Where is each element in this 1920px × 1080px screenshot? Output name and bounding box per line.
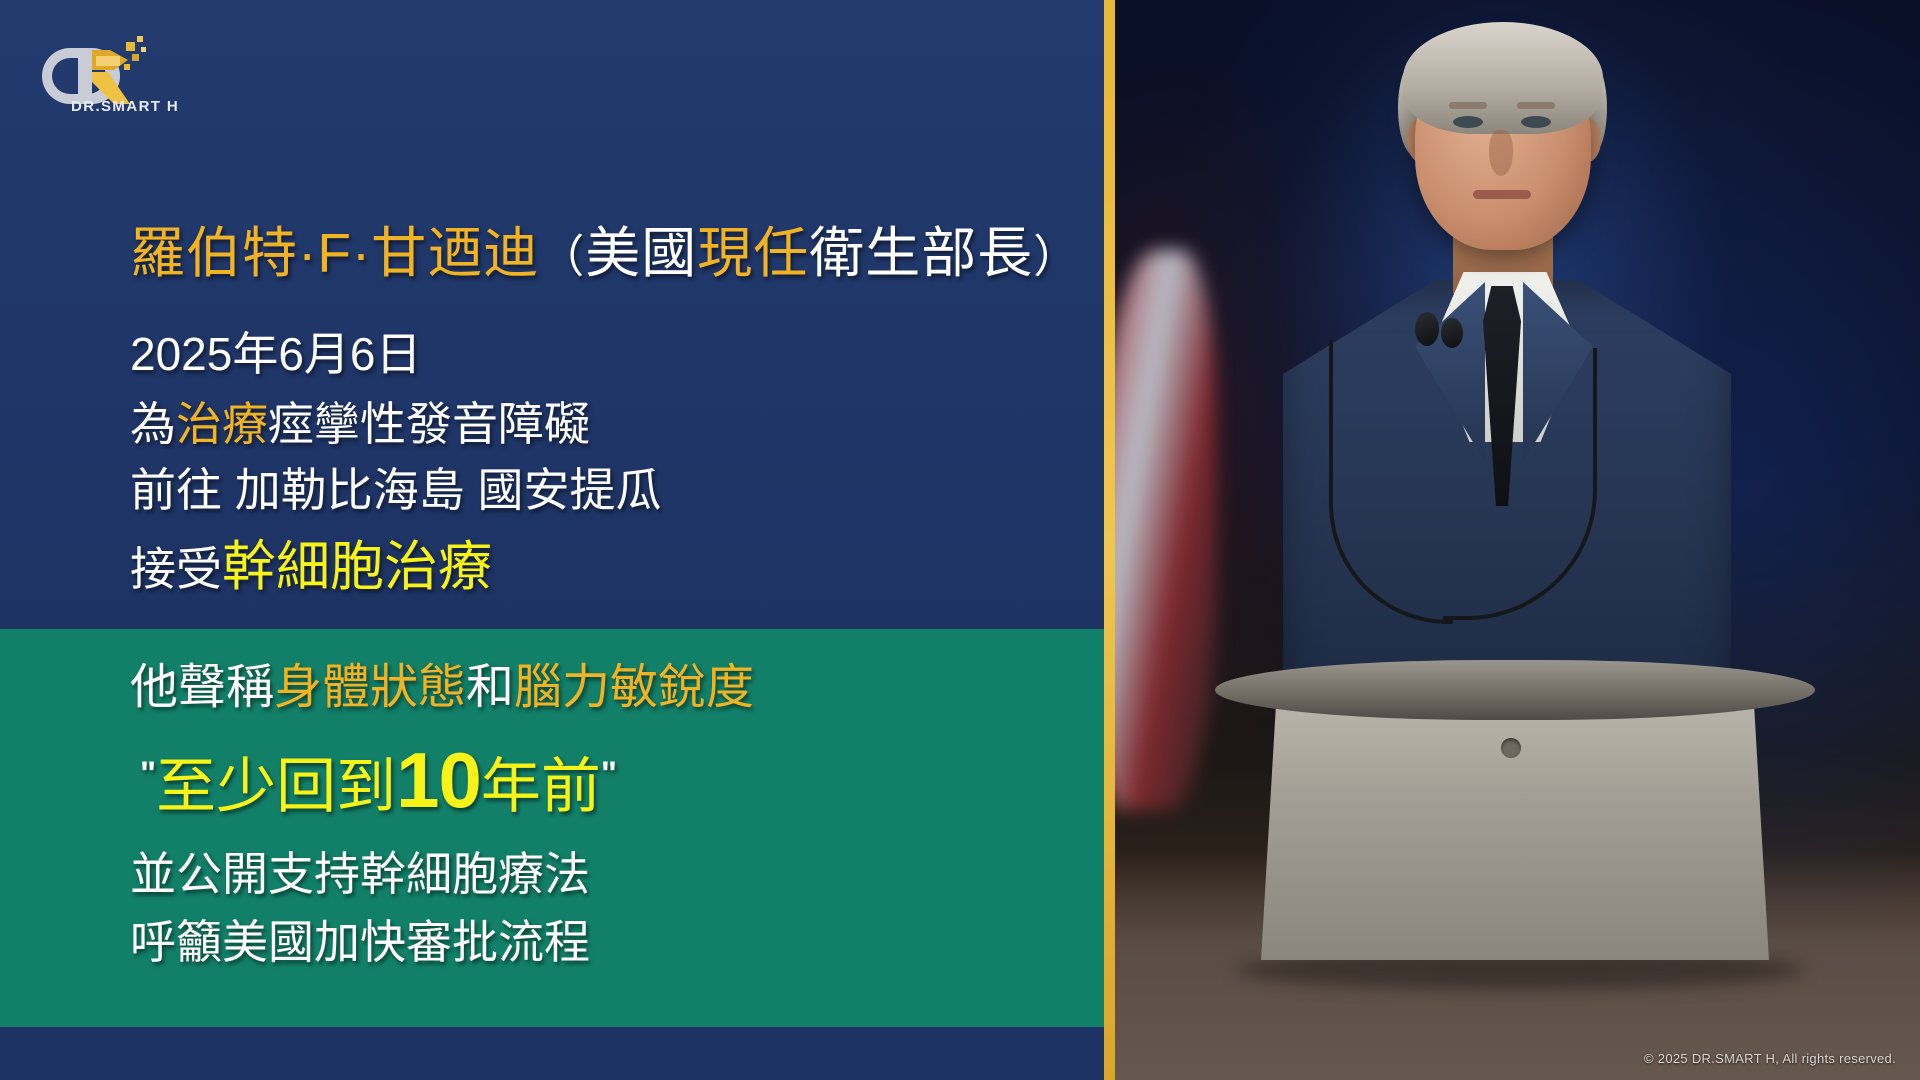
- microphone-head-right: [1441, 318, 1463, 348]
- title-country: 美國: [585, 222, 697, 284]
- pull-quote: "至少回到10年前": [140, 735, 617, 826]
- quote-open-mark: ": [140, 755, 156, 793]
- treatment-prefix: 接受: [130, 543, 222, 595]
- page-title: 羅伯特·F·甘迺迪（美國現任衛生部長）: [130, 208, 1079, 288]
- reason-keyword: 治療: [176, 398, 268, 450]
- title-paren-close: ）: [1033, 231, 1079, 282]
- person-eye-right: [1521, 116, 1551, 128]
- gold-divider-strip: [1104, 0, 1115, 1080]
- claim-prefix: 他聲稱: [130, 661, 274, 714]
- treatment-line: 接受幹細胞治療: [130, 522, 492, 601]
- podium-top: [1215, 660, 1815, 720]
- navy-footer-bar: [0, 1027, 1104, 1080]
- copyright-notice: © 2025 DR.SMART H, All rights reserved.: [1644, 1051, 1896, 1066]
- title-person-name: 羅伯特·F·甘迺迪: [130, 222, 539, 284]
- claim-line: 他聲稱身體狀態和腦力敏銳度: [130, 647, 754, 717]
- slide-canvas: DR.SMART H 羅伯特·F·甘迺迪（美國現任衛生部長） 2025年6月6日…: [0, 0, 1920, 1080]
- quote-text-part-1: 至少回到: [156, 753, 396, 820]
- title-paren-open: （: [539, 231, 585, 282]
- reason-prefix: 為: [130, 398, 176, 450]
- quote-text-part-2: 年前: [481, 753, 601, 820]
- event-date: 2025年6月6日: [130, 318, 422, 384]
- claim-conjunction: 和: [466, 661, 514, 714]
- person-nose: [1489, 130, 1513, 176]
- brand-wordmark: DR.SMART H: [71, 98, 179, 115]
- claim-physical-state: 身體狀態: [274, 661, 466, 714]
- treatment-keyword: 幹細胞治療: [222, 537, 492, 597]
- reason-suffix: 痙攣性發音障礙: [268, 398, 590, 450]
- person-mouth: [1473, 190, 1531, 199]
- support-line: 並公開支持幹細胞療法: [130, 838, 590, 904]
- appeal-line: 呼籲美國加快審批流程: [130, 906, 590, 972]
- brand-logo: DR.SMART H: [40, 28, 190, 123]
- travel-line: 前往 加勒比海島 國安提瓜: [130, 454, 662, 520]
- quote-close-mark: ": [601, 755, 617, 793]
- title-current-role-emphasis: 現任: [697, 222, 809, 284]
- microphone-head-left: [1415, 312, 1439, 346]
- background-flag: [1115, 250, 1217, 810]
- person-eyebrow-right: [1517, 102, 1555, 109]
- quote-number: 10: [396, 736, 481, 824]
- title-role: 衛生部長: [809, 222, 1033, 284]
- person-eye-left: [1453, 116, 1483, 128]
- reason-line: 為治療痙攣性發音障礙: [130, 388, 590, 454]
- person-eyebrow-left: [1449, 102, 1487, 109]
- person-hair-top: [1403, 22, 1603, 134]
- podium-photo: © 2025 DR.SMART H, All rights reserved.: [1115, 0, 1920, 1080]
- podium-knob: [1501, 738, 1521, 758]
- claim-mental-acuity: 腦力敏銳度: [514, 661, 754, 714]
